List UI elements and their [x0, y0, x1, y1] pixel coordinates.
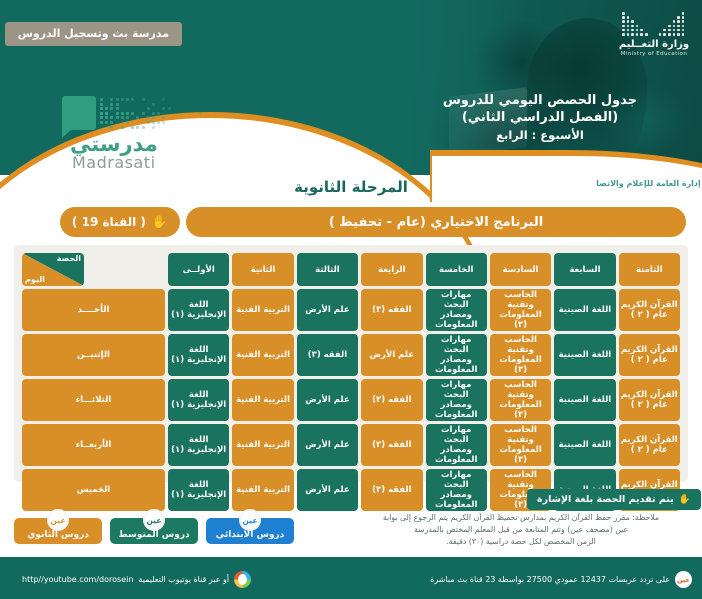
note-line-2: عين (مصحف عين) وتتم المتابعة من قبل المع…: [352, 524, 690, 536]
subject-cell: اللغة الصينية: [554, 334, 615, 376]
media-department-emblem: الإدارة العامة للإعلام والاتصال: [596, 170, 700, 196]
subject-cell: علم الأرض: [297, 289, 358, 331]
ministry-dots-icon: [608, 10, 700, 37]
school-name-pill: مدرسة بث وتسجيل الدروس: [5, 22, 182, 46]
subject-cell: علم الأرض: [297, 379, 358, 421]
note-line-3: الزمن المخصص لكل حصة دراسية (٣٠) دقيقة.: [352, 536, 690, 548]
subject-cell: القرآن الكريم عام ( ٢ ): [619, 289, 680, 331]
title-line-1: جدول الحصص اليومي للدروس: [390, 92, 690, 109]
ain-logo-icon: عين: [143, 509, 165, 531]
period-header-6: السادسة: [490, 253, 551, 286]
day-cell: الأحــــد: [22, 289, 165, 331]
ministry-of-education-logo: وزارة التعــليم Ministry of Education: [608, 10, 700, 62]
satellite-frequency-text: على تردد عربسات 12437 عمودي 27500 بواسطة…: [430, 575, 670, 584]
subject-cell: الفقه (٣): [361, 424, 422, 466]
corner-label-day: اليوم: [25, 275, 45, 285]
ein-portal-icon: [234, 571, 251, 588]
bottom-bar: عين على تردد عربسات 12437 عمودي 27500 بو…: [0, 557, 702, 599]
subject-cell: التربية الفنية: [232, 289, 293, 331]
level-badges: عيندروس الابتدائيعيندروس المتوسطعيندروس …: [14, 518, 294, 544]
sign-language-label: يتم تقديم الحصة بلغة الإشارة: [537, 494, 674, 505]
day-cell: الخميس: [22, 469, 165, 511]
subject-cell: الحاسب وتقنية المعلومات (٣): [490, 379, 551, 421]
day-cell: الثلاثـــاء: [22, 379, 165, 421]
subject-cell: اللغة الإنجليزية (١): [168, 469, 229, 511]
subject-cell: مهارات البحث ومصادر المعلومات: [426, 334, 487, 376]
level-label: دروس الابتدائي: [216, 530, 285, 540]
madrasati-logo: مدرستي Madrasati: [52, 96, 212, 170]
period-header-3: الثالثة: [297, 253, 358, 286]
subject-cell: علم الأرض: [297, 469, 358, 511]
subject-cell: التربية الفنية: [232, 379, 293, 421]
book-speech-icon: [62, 96, 96, 130]
subject-cell: اللغة الصينية: [554, 289, 615, 331]
subject-cell: مهارات البحث ومصادر المعلومات: [426, 289, 487, 331]
poster-title: جدول الحصص اليومي للدروس (الفصل الدراسي …: [390, 92, 690, 144]
period-header-1: الأولــى: [168, 253, 229, 286]
subject-cell: الفقه (٣): [361, 289, 422, 331]
period-header-8: الثامنة: [619, 253, 680, 286]
period-header-2: الثانية: [232, 253, 293, 286]
dot-grid-icon: [100, 98, 205, 130]
table-row: القرآن الكريم عام ( ٢ )اللغة الصينيةالحا…: [22, 289, 680, 331]
subject-cell: التربية الفنية: [232, 334, 293, 376]
subject-cell: اللغة الإنجليزية (١): [168, 379, 229, 421]
level-badge[interactable]: عيندروس الابتدائي: [206, 518, 294, 544]
table-header-row: الثامنةالسابعةالسادسةالخامسةالرابعةالثال…: [22, 253, 680, 286]
channel-badge: ✋ ( القناة 19 ): [60, 207, 180, 237]
schedule-poster: مدرسة بث وتسجيل الدروس وزارة التعــليم M…: [0, 0, 702, 599]
schedule-table: الثامنةالسابعةالسادسةالخامسةالرابعةالثال…: [19, 250, 683, 514]
youtube-info[interactable]: أو عبر قناة يوتيوب التعليمية http//youtu…: [22, 571, 251, 588]
ain-logo-icon: عين: [47, 509, 69, 531]
subject-cell: اللغة الإنجليزية (١): [168, 289, 229, 331]
ain-logo-icon: عين: [675, 571, 692, 588]
day-cell: الإثنيــن: [22, 334, 165, 376]
hand-icon: ✋: [152, 216, 168, 229]
footer-note: ملاحظة: مقرر حفظ القرآن الكريم بمدارس تح…: [352, 512, 690, 548]
subject-cell: التربية الفنية: [232, 469, 293, 511]
subject-cell: اللغة الصينية: [554, 424, 615, 466]
level-badge[interactable]: عيندروس المتوسط: [110, 518, 198, 544]
subject-cell: الحاسب وتقنية المعلومات (٣): [490, 424, 551, 466]
subject-cell: اللغة الصينية: [554, 379, 615, 421]
subject-cell: اللغة الإنجليزية (١): [168, 334, 229, 376]
ministry-name-en: Ministry of Education: [608, 50, 700, 58]
period-header-7: السابعة: [554, 253, 615, 286]
program-bar: البرنامج الاختياري (عام - تحفيظ ): [186, 207, 686, 237]
subject-cell: القرآن الكريم عام ( ٢ ): [619, 424, 680, 466]
subject-cell: الفقه (٣): [361, 379, 422, 421]
subject-cell: الحاسب وتقنية المعلومات (٣): [490, 289, 551, 331]
schedule-table-panel: الثامنةالسابعةالسادسةالخامسةالرابعةالثال…: [14, 245, 688, 482]
period-header-4: الرابعة: [361, 253, 422, 286]
subject-cell: الفقه (٣): [297, 334, 358, 376]
sign-hand-icon: ✋: [679, 494, 691, 505]
corner-header: الحصةاليوم: [22, 253, 84, 286]
subject-cell: الحاسب وتقنية المعلومات (٣): [490, 334, 551, 376]
note-line-1: ملاحظة: مقرر حفظ القرآن الكريم بمدارس تح…: [352, 512, 690, 524]
ministry-name-ar: وزارة التعــليم: [608, 39, 700, 50]
madrasati-label-en: Madrasati: [72, 153, 156, 172]
table-row: القرآن الكريم عام ( ٢ )اللغة الصينيةالحا…: [22, 334, 680, 376]
channel-label: ( القناة 19 ): [72, 215, 146, 229]
subject-cell: القرآن الكريم عام ( ٢ ): [619, 334, 680, 376]
subject-cell: مهارات البحث ومصادر المعلومات: [426, 424, 487, 466]
subject-cell: اللغة الإنجليزية (١): [168, 424, 229, 466]
youtube-url[interactable]: http//youtube.com/dorosein: [22, 575, 133, 584]
corner-label-period: الحصة: [57, 254, 81, 264]
youtube-prefix-text: أو عبر قناة يوتيوب التعليمية: [138, 575, 229, 584]
subject-cell: التربية الفنية: [232, 424, 293, 466]
level-badge[interactable]: عيندروس الثانوي: [14, 518, 102, 544]
period-header-5: الخامسة: [426, 253, 487, 286]
subject-cell: علم الأرض: [361, 334, 422, 376]
subject-cell: مهارات البحث ومصادر المعلومات: [426, 469, 487, 511]
table-row: القرآن الكريم عام ( ٢ )اللغة الصينيةالحا…: [22, 424, 680, 466]
level-label: دروس الثانوي: [27, 530, 89, 540]
ain-logo-icon: عين: [239, 509, 261, 531]
subject-cell: القرآن الكريم عام ( ٢ ): [619, 379, 680, 421]
day-cell: الأربعــاء: [22, 424, 165, 466]
sign-language-badge: ✋ يتم تقديم الحصة بلغة الإشارة: [527, 489, 701, 510]
title-line-2: (الفصل الدراسي الثاني): [390, 109, 690, 126]
satellite-info: عين على تردد عربسات 12437 عمودي 27500 بو…: [430, 571, 692, 588]
subject-cell: الفقه (٣): [361, 469, 422, 511]
subject-cell: مهارات البحث ومصادر المعلومات: [426, 379, 487, 421]
level-label: دروس المتوسط: [118, 530, 189, 540]
table-row: القرآن الكريم عام ( ٢ )اللغة الصينيةالحا…: [22, 379, 680, 421]
title-line-3-week: الأسبوع : الرابع: [390, 127, 690, 144]
subject-cell: علم الأرض: [297, 424, 358, 466]
